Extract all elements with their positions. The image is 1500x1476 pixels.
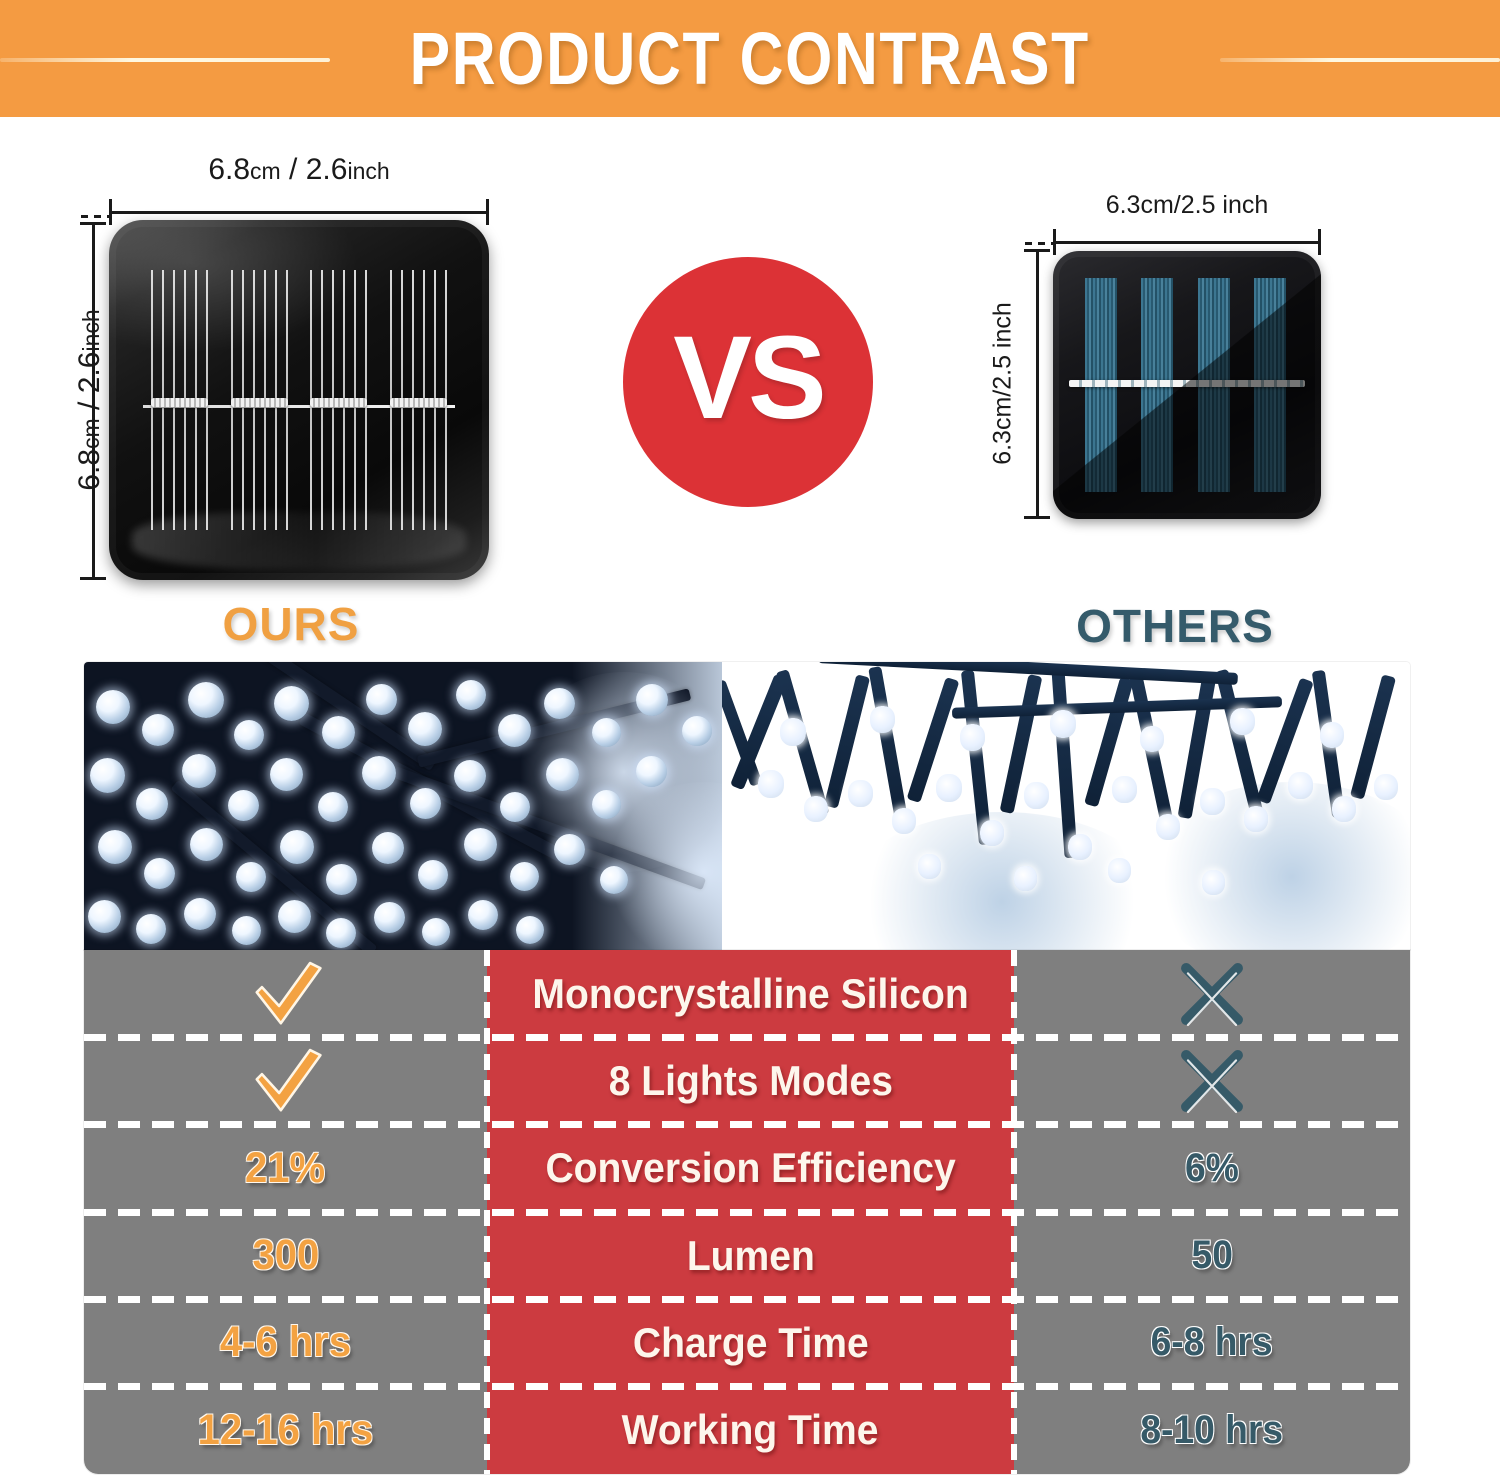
others-width-label: 6.3cm/2.5 inch: [1013, 191, 1361, 220]
others-panel-block: 6.3cm/2.5 inch 6.3cm/2.5 inch OTHERS: [975, 179, 1375, 657]
ours-panel-block: 6.8cm / 2.6inch 6.8cm / 2.6inch: [56, 147, 526, 657]
check-icon: [243, 1038, 329, 1124]
check-icon: [243, 951, 329, 1037]
feature-label: Charge Time: [633, 1319, 869, 1367]
cell-others-value: 6%: [1014, 1125, 1410, 1212]
busbar-segment: [151, 398, 208, 407]
ours-width-unit-cm: cm: [250, 158, 281, 184]
others-height-label: 6.3cm/2.5 inch: [989, 284, 1018, 484]
busbar-segment: [310, 398, 367, 407]
busbar-segment: [231, 398, 288, 407]
cell-ours-value: 12-16 hrs: [84, 1386, 487, 1473]
others-led-photo: [722, 662, 1410, 950]
spec-comparison-table: Monocrystalline Silicon: [84, 950, 1410, 1474]
others-height-dimension: [1024, 249, 1050, 519]
ours-width-sep: /: [281, 153, 306, 186]
table-row: 300 Lumen 50: [84, 1212, 1410, 1299]
dim-bar: [112, 211, 486, 214]
cell-feature-name: Monocrystalline Silicon: [487, 950, 1014, 1037]
vs-label: VS: [673, 310, 822, 446]
cell-others-value: [1014, 950, 1410, 1037]
table-row: 21% Conversion Efficiency 6%: [84, 1125, 1410, 1212]
cell-ours-value: 300: [84, 1212, 487, 1299]
cell-feature-name: Conversion Efficiency: [487, 1125, 1014, 1212]
feature-label: Lumen: [686, 1232, 814, 1280]
ours-width-inch-num: 2.6: [306, 153, 348, 186]
ours-width-label: 6.8cm / 2.6inch: [109, 153, 489, 187]
ours-value: 12-16 hrs: [198, 1406, 374, 1455]
others-value: 50: [1191, 1233, 1232, 1278]
cell-ours-value: [84, 950, 487, 1037]
page-title: PRODUCT CONTRAST: [398, 16, 1101, 101]
dim-bar-v: [1036, 252, 1039, 516]
dim-tick-bottom: [1024, 516, 1050, 519]
product-contrast-infographic: PRODUCT CONTRAST 6.8cm / 2.6inch 6.8c: [0, 0, 1500, 1476]
cell-ours-value: 4-6 hrs: [84, 1299, 487, 1386]
busbar-segment: [390, 398, 447, 407]
cell-feature-name: Working Time: [487, 1386, 1014, 1473]
ours-height-label: 6.8cm / 2.6inch: [73, 290, 107, 510]
cell-ours-value: 21%: [84, 1125, 487, 1212]
table-row: 12-16 hrs Working Time 8-10 hrs: [84, 1386, 1410, 1473]
others-value: 8-10 hrs: [1141, 1408, 1284, 1453]
cell-others-value: 50: [1014, 1212, 1410, 1299]
others-solar-panel-image: [1053, 251, 1321, 519]
vs-badge: VS: [623, 257, 873, 507]
cell-feature-name: Charge Time: [487, 1299, 1014, 1386]
ours-led-photo: [84, 662, 722, 950]
cell-feature-name: Lumen: [487, 1212, 1014, 1299]
table-row: 8 Lights Modes: [84, 1037, 1410, 1124]
table-row: Monocrystalline Silicon: [84, 950, 1410, 1037]
ours-width-unit-in: inch: [347, 158, 389, 184]
feature-label: Conversion Efficiency: [545, 1144, 955, 1192]
cell-feature-name: 8 Lights Modes: [487, 1037, 1014, 1124]
table-row: 4-6 hrs Charge Time 6-8 hrs: [84, 1299, 1410, 1386]
cell-others-value: 8-10 hrs: [1014, 1386, 1410, 1473]
feature-label: Working Time: [622, 1406, 879, 1454]
feature-label: Monocrystalline Silicon: [532, 970, 968, 1018]
others-value: 6%: [1185, 1146, 1239, 1191]
ours-height-unit-in: inch: [78, 309, 104, 351]
panel-comparison-zone: 6.8cm / 2.6inch 6.8cm / 2.6inch: [0, 117, 1500, 657]
dim-tick-bottom: [80, 577, 106, 580]
ours-value: 4-6 hrs: [220, 1318, 351, 1367]
panel-shadow-diagonal: [1053, 251, 1321, 519]
banner-rule-left: [0, 58, 330, 62]
ours-width-number: 6.8: [208, 153, 250, 186]
others-width-text: 6.3cm/2.5 inch: [1106, 191, 1269, 219]
cell-others-value: 6-8 hrs: [1014, 1299, 1410, 1386]
cell-ours-value: [84, 1037, 487, 1124]
others-height-text: 6.3cm/2.5 inch: [989, 302, 1017, 465]
photo-comparison-strip: [84, 662, 1410, 950]
others-value: 6-8 hrs: [1151, 1320, 1273, 1365]
banner-rule-right: [1220, 58, 1500, 62]
ours-height-unit-cm: cm: [78, 418, 104, 449]
cell-others-value: [1014, 1037, 1410, 1124]
others-brand-label: OTHERS: [975, 599, 1375, 653]
ours-brand-label: OURS: [56, 597, 526, 651]
cross-icon: [1169, 1038, 1255, 1124]
ours-corner-dash-top: [81, 215, 109, 218]
ours-height-sep: /: [73, 393, 106, 418]
others-corner-dash-top: [1025, 242, 1053, 245]
ours-solar-panel-image: [109, 220, 489, 580]
ours-value: 21%: [245, 1144, 325, 1193]
feature-label: 8 Lights Modes: [608, 1057, 892, 1105]
header-banner: PRODUCT CONTRAST: [0, 0, 1500, 117]
ours-height-number: 6.8: [73, 449, 106, 491]
dim-tick-right: [486, 199, 489, 225]
cross-icon: [1169, 951, 1255, 1037]
ours-height-inch-num: 2.6: [73, 352, 106, 394]
ours-value: 300: [252, 1231, 319, 1280]
dim-bar: [1056, 241, 1318, 244]
